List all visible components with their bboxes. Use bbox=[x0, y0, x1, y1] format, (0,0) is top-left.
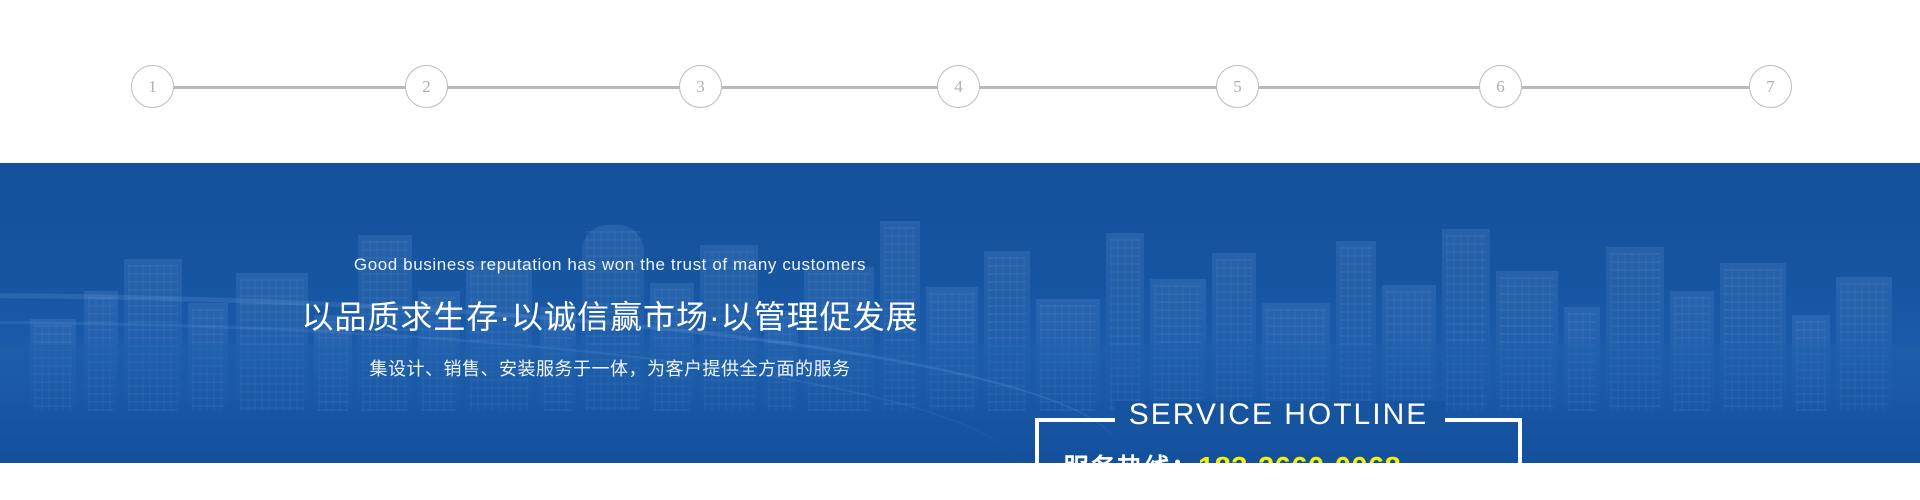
pagination-step-4[interactable]: 4 bbox=[937, 65, 980, 108]
promo-banner: Good business reputation has won the tru… bbox=[0, 163, 1920, 463]
slogan-english: Good business reputation has won the tru… bbox=[300, 255, 920, 275]
slogan-headline: 以品质求生存·以诚信赢市场·以管理促发展 bbox=[300, 292, 920, 338]
hotline-body: 服务热线： 183-2660-0068 0551-63749777 bbox=[1035, 448, 1522, 463]
pagination-step-2[interactable]: 2 bbox=[405, 65, 448, 108]
pagination-step-5[interactable]: 5 bbox=[1216, 65, 1259, 108]
pagination-step-7[interactable]: 7 bbox=[1749, 65, 1792, 108]
hotline-row-primary: 服务热线： 183-2660-0068 bbox=[1035, 448, 1522, 463]
hotline-title: SERVICE HOTLINE bbox=[1035, 398, 1522, 432]
pagination-step-6[interactable]: 6 bbox=[1479, 65, 1522, 108]
pagination-step-3[interactable]: 3 bbox=[679, 65, 722, 108]
page-root: 1 2 3 4 5 6 7 bbox=[0, 0, 1920, 500]
slogan-subline: 集设计、销售、安装服务于一体，为客户提供全方面的服务 bbox=[300, 355, 920, 381]
service-hotline-box: SERVICE HOTLINE 服务热线： 183-2660-0068 0551… bbox=[1035, 418, 1522, 463]
hotline-phone-primary[interactable]: 183-2660-0068 bbox=[1198, 452, 1401, 463]
pagination-bar: 1 2 3 4 5 6 7 bbox=[0, 0, 1920, 163]
hotline-label: 服务热线： bbox=[1063, 448, 1198, 463]
pagination-step-1[interactable]: 1 bbox=[131, 65, 174, 108]
slogan-block: Good business reputation has won the tru… bbox=[300, 255, 920, 381]
